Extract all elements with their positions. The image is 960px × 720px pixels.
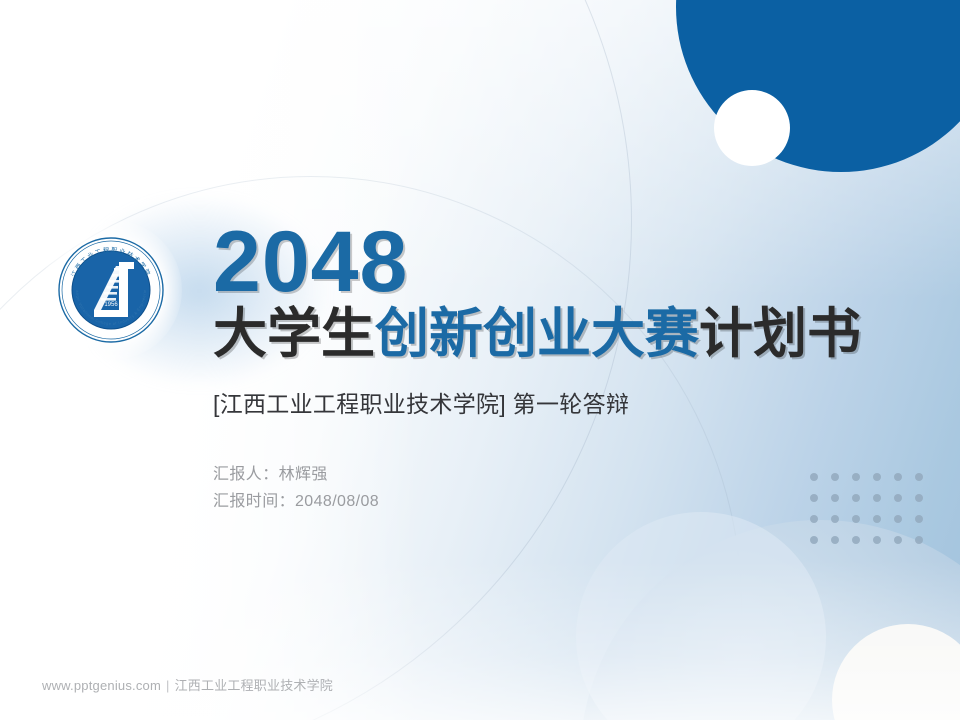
decor-dot	[852, 536, 860, 544]
presenter-meta: 汇报人：林辉强 汇报时间：2048/08/08	[213, 462, 913, 515]
decor-dot	[894, 536, 902, 544]
title-text-block: 2048 大学生创新创业大赛计划书 [江西工业工程职业技术学院] 第一轮答辩 汇…	[213, 222, 913, 515]
headline-accent: 创新创业大赛	[375, 304, 699, 364]
decor-circle-white-top	[714, 90, 790, 166]
logo-established-year: 1956	[104, 302, 118, 308]
decor-dot	[915, 536, 923, 544]
footer-website: www.pptgenius.com	[42, 678, 161, 693]
slide-year: 2048	[213, 222, 913, 303]
decor-dot	[873, 536, 881, 544]
slide-headline: 大学生创新创业大赛计划书	[213, 305, 913, 363]
title-slide: 江西工业工程职业技术学院 Jiangxi Vocational College …	[0, 0, 960, 720]
slide-subtitle: [江西工业工程职业技术学院] 第一轮答辩	[213, 385, 913, 419]
headline-tail: 计划书	[699, 304, 861, 364]
headline-lead: 大学生	[213, 304, 375, 364]
footer-organization: 江西工业工程职业技术学院	[175, 678, 333, 693]
decor-dot	[810, 515, 818, 523]
decor-dot	[852, 515, 860, 523]
footer-separator: |	[166, 678, 170, 693]
school-logo: 江西工业工程职业技术学院 Jiangxi Vocational College …	[57, 236, 165, 344]
background-bottom-fade	[0, 560, 960, 720]
presenter-name: 汇报人：林辉强	[213, 462, 913, 488]
decor-dot	[873, 515, 881, 523]
decor-dot	[831, 515, 839, 523]
decor-dot	[894, 515, 902, 523]
decor-dot	[831, 536, 839, 544]
decor-dot	[810, 536, 818, 544]
decor-dot	[915, 473, 923, 481]
decor-dot	[915, 515, 923, 523]
slide-footer: www.pptgenius.com|江西工业工程职业技术学院	[42, 675, 333, 694]
decor-dot	[915, 494, 923, 502]
presentation-date: 汇报时间：2048/08/08	[213, 489, 913, 515]
